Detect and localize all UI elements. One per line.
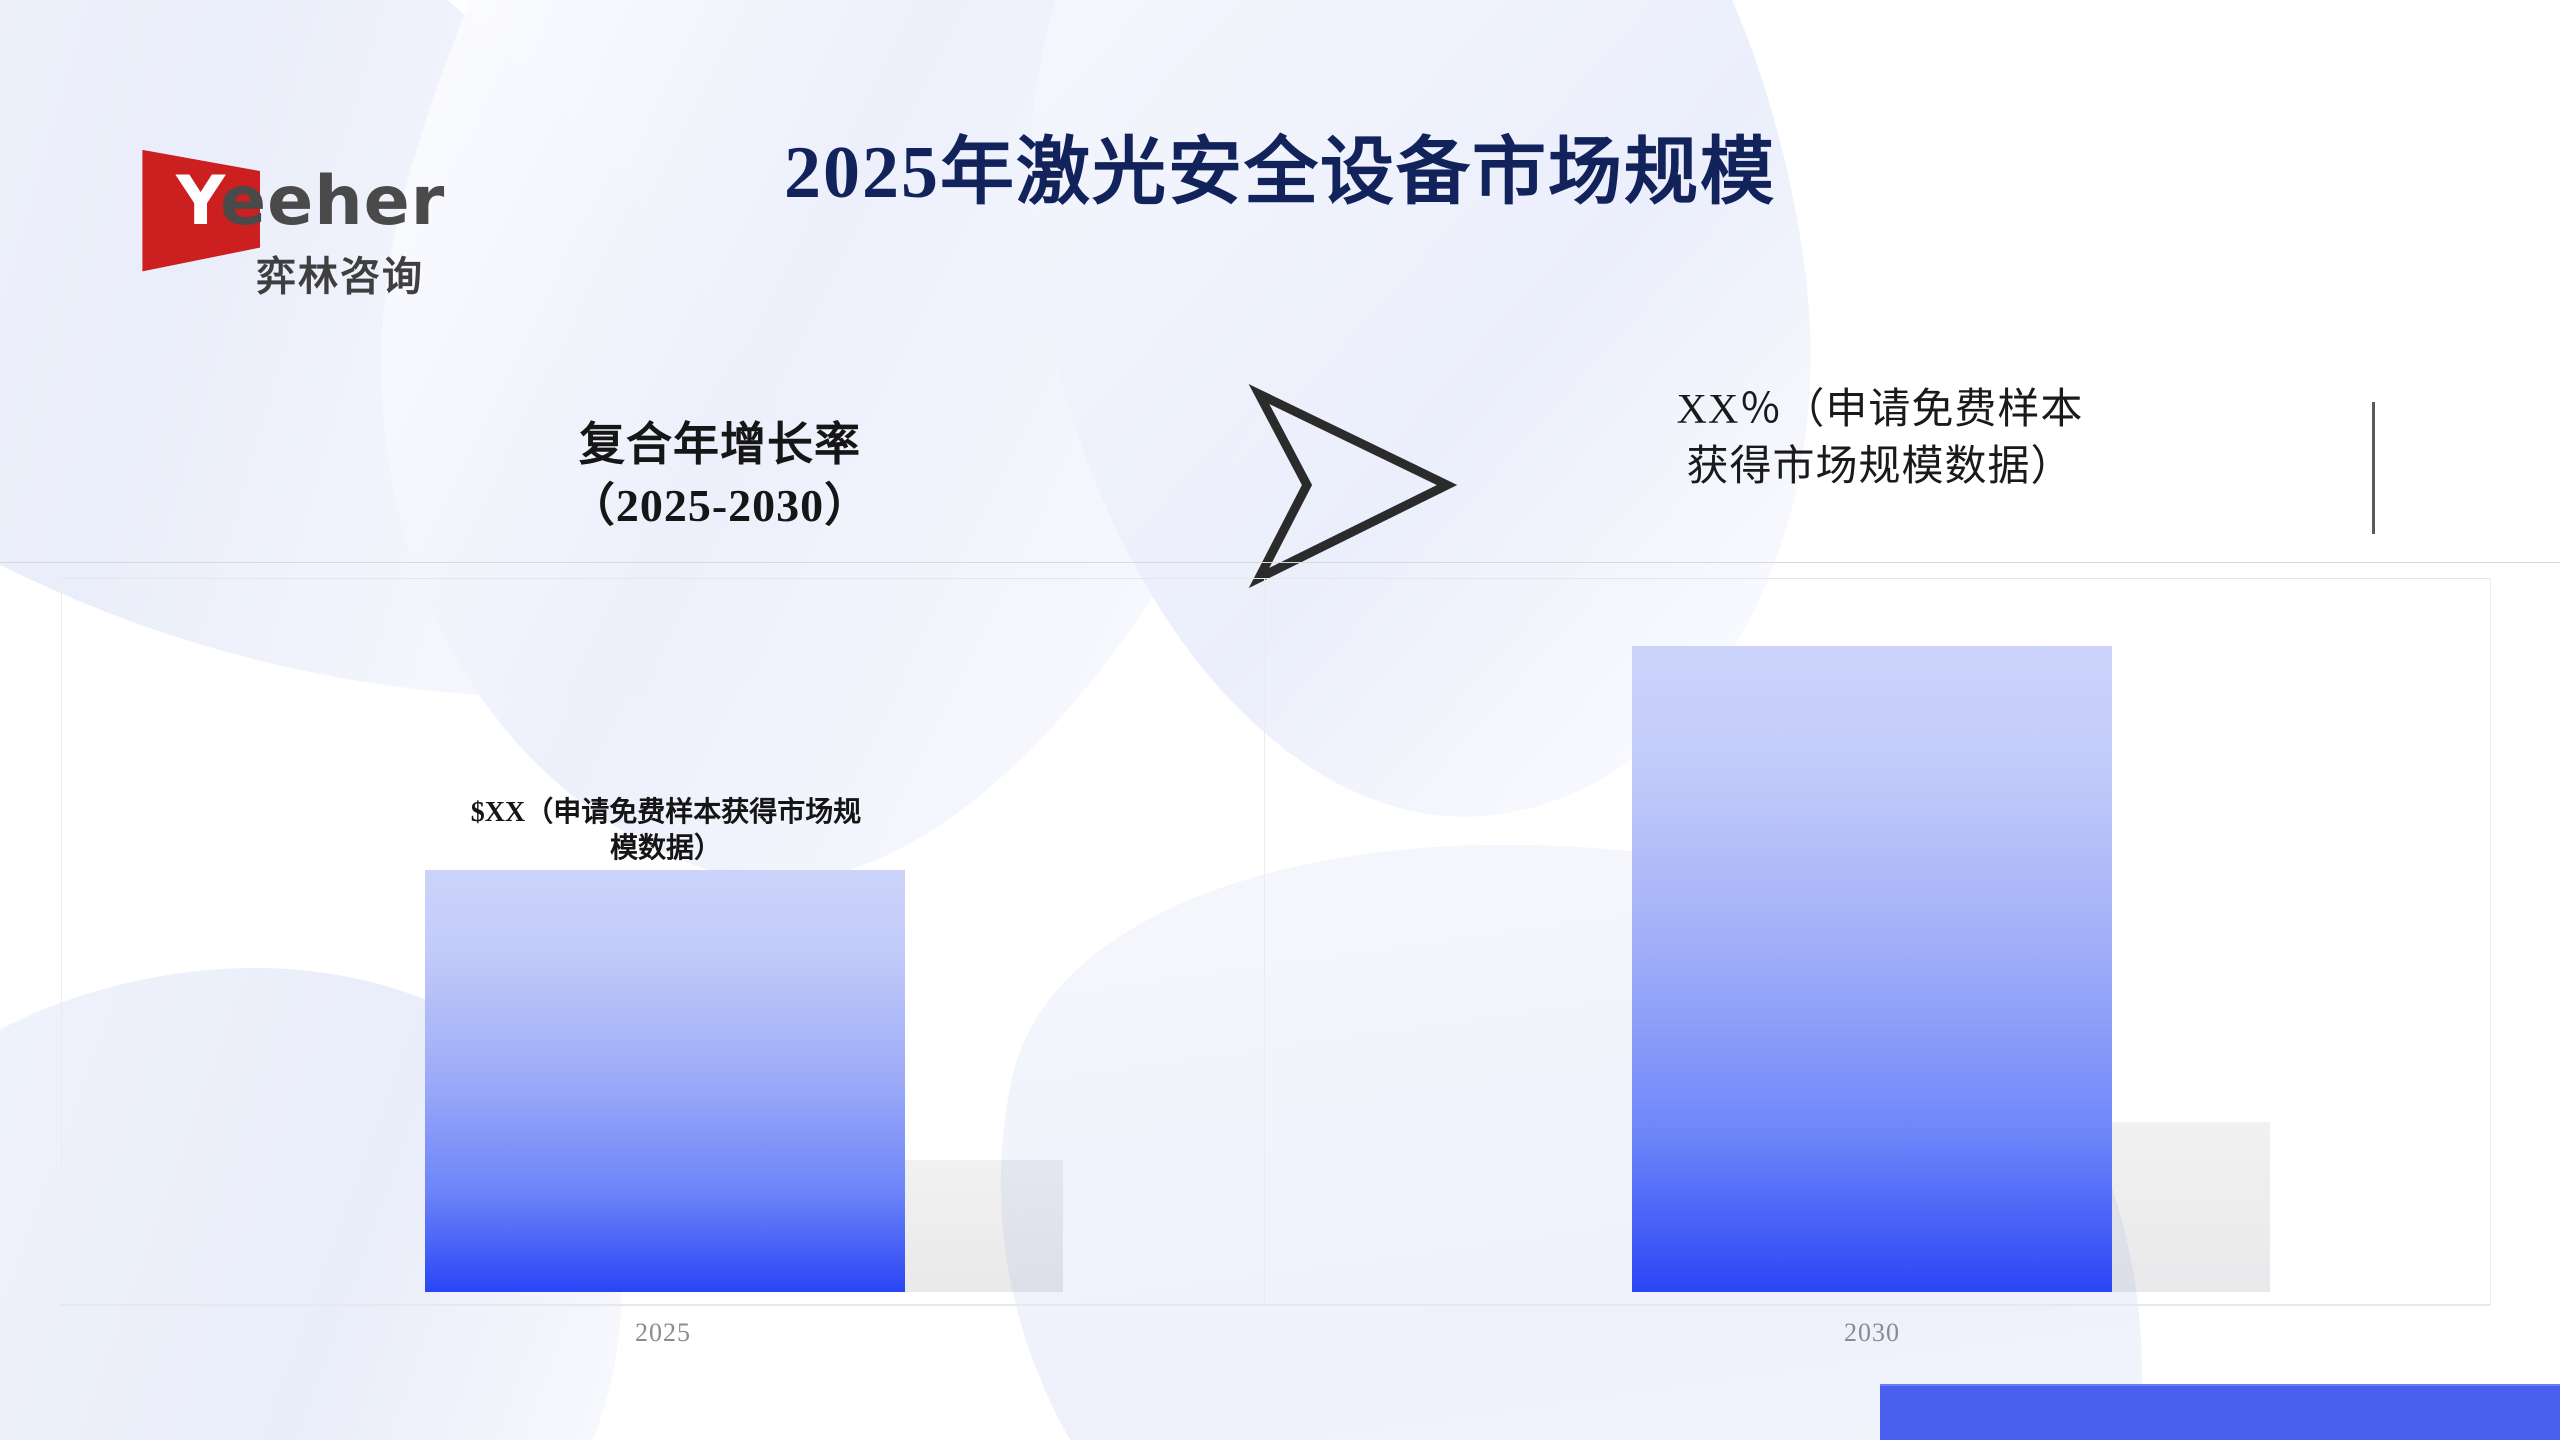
tick-label-2025: 2025 [563,1318,763,1348]
page-title: 2025年激光安全设备市场规模 [640,112,1920,219]
brand-logo: Yeeher 弈林咨询 [128,128,468,318]
bar-label-2025: $XX（申请免费样本获得市场规 模数据） [420,795,912,867]
bar-2030[interactable] [1632,646,2112,1292]
chart-panel-divider [1264,578,1265,1306]
header-divider [0,562,2560,563]
logo-subtitle: 弈林咨询 [256,244,424,302]
bar-shadow-2025 [905,1160,1063,1292]
cagr-label-line2: （2025-2030） [480,476,960,537]
bar-label-2025-line1: $XX（申请免费样本获得市场规 [420,795,912,831]
bar-2025[interactable] [425,870,905,1292]
logo-word-rest: eeher [220,162,445,241]
arrow-right-outline-svg [1215,380,1465,590]
cagr-value-line2: 获得市场规模数据） [1600,439,2160,496]
chart-baseline [61,1304,2491,1306]
bottom-accent-bar [1880,1386,2560,1440]
cagr-label-line1: 复合年增长率 [480,415,960,476]
bar-label-2025-line2: 模数据） [420,831,912,867]
logo-word-initial: Y [176,162,220,241]
logo-wordmark: Yeeher [176,168,445,236]
tick-label-2030: 2030 [1772,1318,1972,1348]
cagr-value: XX％（申请免费样本 获得市场规模数据） [1600,382,2160,496]
cagr-value-line1: XX％（申请免费样本 [1600,382,2160,439]
side-divider-rule [2372,402,2375,534]
arrow-right-icon [1215,380,1465,590]
slide-canvas: Yeeher 弈林咨询 2025年激光安全设备市场规模 复合年增长率 （2025… [0,0,2560,1440]
cagr-label: 复合年增长率 （2025-2030） [480,415,960,536]
bar-shadow-2030 [2112,1122,2270,1292]
